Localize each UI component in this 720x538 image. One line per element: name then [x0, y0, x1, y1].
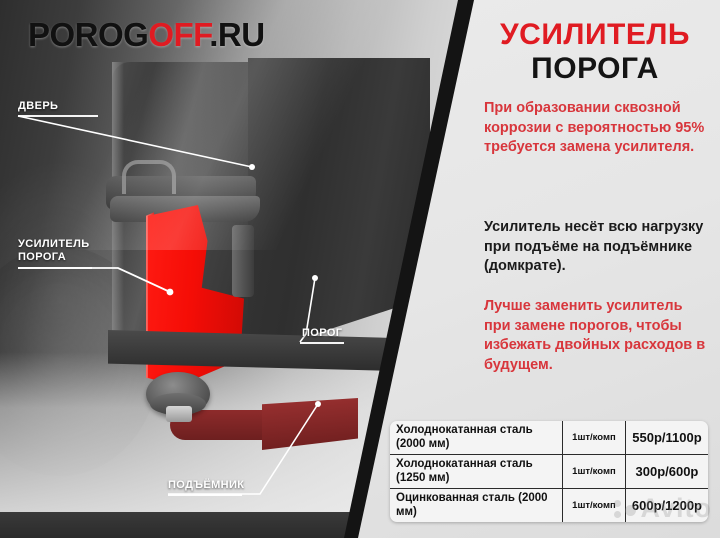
logo-part-ru: .RU [209, 16, 264, 53]
price-table: Холоднокатанная сталь (2000 мм) 1шт/комп… [390, 421, 708, 522]
callout-label-door: ДВЕРЬ [18, 100, 58, 113]
callout-underline-door [18, 115, 98, 117]
door-hinge-hook [122, 160, 176, 194]
cell-quantity: 1шт/комп [563, 489, 626, 523]
cell-price: 300р/600р [625, 455, 708, 489]
table-row: Холоднокатанная сталь (2000 мм) 1шт/комп… [390, 421, 708, 455]
price-table-body: Холоднокатанная сталь (2000 мм) 1шт/комп… [390, 421, 708, 522]
cell-price: 600р/1200р [625, 489, 708, 523]
lift-pad-stem [166, 406, 192, 422]
callout-label-amplifier: УСИЛИТЕЛЬ ПОРОГА [18, 238, 90, 264]
cell-quantity: 1шт/комп [563, 455, 626, 489]
advertisement-banner: ДВЕРЬ УСИЛИТЕЛЬ ПОРОГА ПОРОГ ПОДЪЁМНИК У… [0, 0, 720, 538]
table-row: Оцинкованная сталь (2000 мм) 1шт/комп 60… [390, 489, 708, 523]
cell-product-name: Холоднокатанная сталь (1250 мм) [390, 455, 563, 489]
callout-underline-lift [168, 494, 242, 496]
callout-label-lift: ПОДЪЁМНИК [168, 479, 244, 492]
brand-logo: POROGOFF.RU [28, 16, 265, 54]
page-title-line2: ПОРОГА [470, 52, 720, 86]
callout-underline-sill [300, 342, 344, 344]
cell-product-name: Оцинкованная сталь (2000 мм) [390, 489, 563, 523]
callout-label-sill: ПОРОГ [302, 327, 342, 340]
page-title: УСИЛИТЕЛЬ ПОРОГА [470, 18, 720, 86]
cell-price: 550р/1100р [625, 421, 708, 455]
info-paragraph-corrosion: При образовании сквозной коррозии с веро… [484, 99, 710, 158]
info-paragraph-advice: Лучше заменить усилитель при замене поро… [484, 297, 710, 375]
page-title-line1: УСИЛИТЕЛЬ [470, 18, 720, 52]
info-paragraph-load: Усилитель несёт всю нагрузку при подъёме… [484, 218, 710, 277]
logo-part-off: OFF [148, 16, 209, 53]
cell-quantity: 1шт/комп [563, 421, 626, 455]
car-rear-quarter-panel [248, 58, 430, 356]
cell-product-name: Холоднокатанная сталь (2000 мм) [390, 421, 563, 455]
callout-underline-amplifier [18, 267, 92, 269]
table-row: Холоднокатанная сталь (1250 мм) 1шт/комп… [390, 455, 708, 489]
sill-bracket [232, 225, 254, 297]
logo-part-porog: POROG [28, 16, 148, 53]
